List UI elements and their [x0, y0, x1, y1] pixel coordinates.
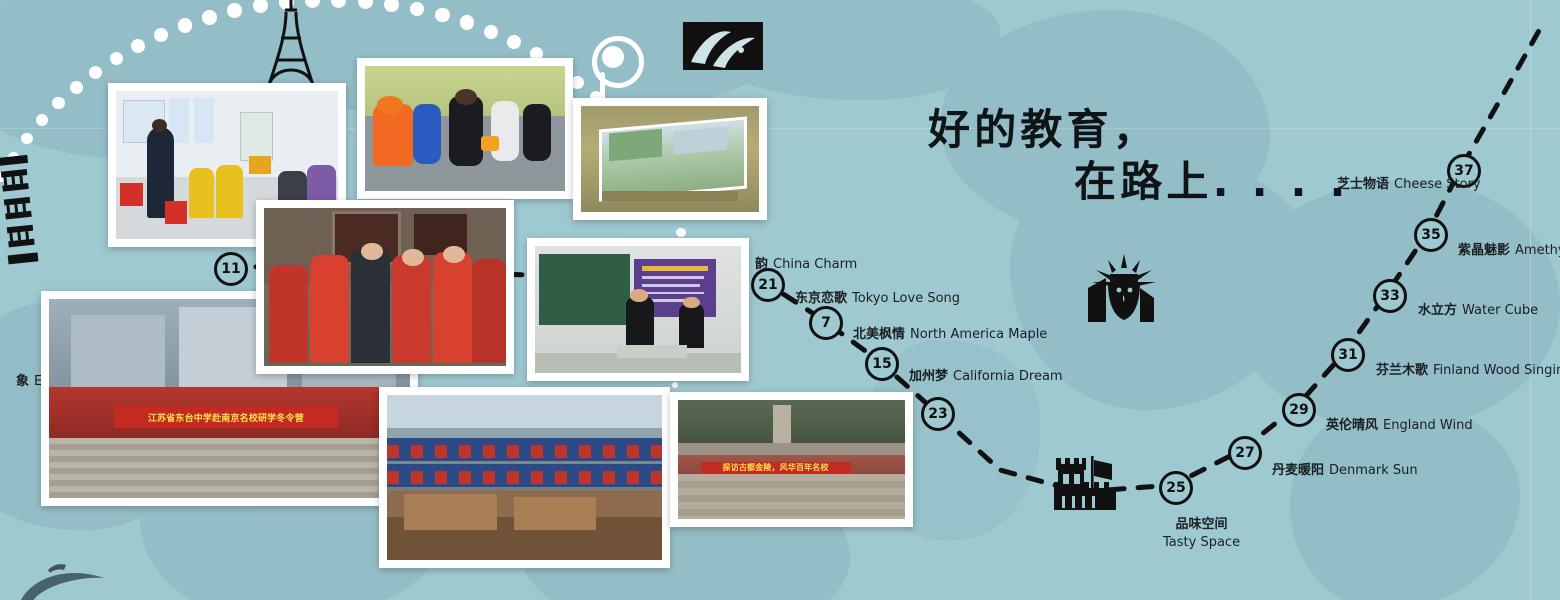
- route-stop-number: 35: [1421, 227, 1440, 243]
- page-title-line-2: 在路上. . . .: [1074, 148, 1350, 209]
- route-stop-label-en: Tasty Space: [1163, 534, 1240, 552]
- arc-dot: [178, 18, 192, 32]
- route-stop-label-en: Finland Wood Singing: [1433, 363, 1560, 378]
- route-stop-label-en: California Dream: [953, 369, 1063, 384]
- route-stop-label-en: Tokyo Love Song: [852, 291, 960, 306]
- route-stop-number: 31: [1338, 347, 1357, 363]
- route-edge-label-cn: 韵: [755, 257, 768, 272]
- banner-text: 探访古都金陵，风华百年名校: [701, 462, 851, 474]
- route-stop-27[interactable]: 27: [1228, 436, 1262, 470]
- route-stop-number: 27: [1235, 445, 1254, 461]
- route-stop-number: 33: [1380, 288, 1399, 304]
- route-stop-label-cn: 北美枫情: [853, 327, 905, 342]
- pin-dot-accent: [602, 46, 624, 68]
- route-stop-label-en: Denmark Sun: [1329, 463, 1418, 478]
- arc-dot: [435, 8, 450, 23]
- statue-of-liberty-icon: [1082, 248, 1166, 324]
- route-stop-label-29: 英伦晴风England Wind: [1326, 414, 1473, 433]
- route-stop-35[interactable]: 35: [1414, 218, 1448, 252]
- arc-dot: [676, 228, 686, 238]
- photo-model-display[interactable]: [573, 98, 767, 220]
- route-stop-label-cn: 芬兰木歌: [1376, 363, 1428, 378]
- route-stop-label-27: 丹麦暖阳Denmark Sun: [1272, 459, 1418, 478]
- arc-dot: [52, 97, 65, 110]
- photo-outdoor-activity[interactable]: [357, 58, 573, 199]
- route-stop-label-cn: 加州梦: [909, 369, 948, 384]
- route-stop-label-cn: 丹麦暖阳: [1272, 463, 1324, 478]
- route-stop-label-15: 加州梦California Dream: [909, 365, 1063, 384]
- route-stop-29[interactable]: 29: [1282, 393, 1316, 427]
- bridge-icon: [8, 556, 128, 600]
- route-stop-number: 21: [758, 277, 777, 293]
- arc-dot: [384, 0, 399, 12]
- route-edge-label-en: China Charm: [773, 257, 857, 272]
- castle-fort-icon: [1050, 452, 1126, 514]
- route-stop-label-cn: 水立方: [1418, 303, 1457, 318]
- route-stop-15[interactable]: 15: [865, 347, 899, 381]
- route-stop-21[interactable]: 21: [751, 268, 785, 302]
- route-stop-number: 29: [1289, 402, 1308, 418]
- route-stop-label-31: 芬兰木歌Finland Wood Singing: [1376, 359, 1560, 378]
- route-stop-label-en: North America Maple: [910, 327, 1047, 342]
- route-stop-number: 25: [1166, 480, 1185, 496]
- arc-dot: [202, 10, 217, 25]
- route-stop-label-33: 水立方Water Cube: [1418, 299, 1538, 318]
- route-stop-label-en: Cheese Story: [1394, 177, 1481, 192]
- route-stop-number: 23: [928, 406, 947, 422]
- route-stop-number: 11: [221, 261, 240, 277]
- arc-dot: [484, 25, 498, 39]
- route-stop-label-21: 东京恋歌Tokyo Love Song: [795, 287, 960, 306]
- route-stop-label-en: England Wind: [1383, 418, 1473, 433]
- route-stop-label-cn: 紫晶魅影: [1458, 243, 1510, 258]
- route-stop-7[interactable]: 7: [809, 306, 843, 340]
- route-stop-label-37: 芝士物语Cheese Story: [1337, 173, 1481, 192]
- route-stop-label-cn: 品味空间: [1163, 516, 1240, 534]
- opera-house-icon: [683, 22, 763, 70]
- photo-monument-group[interactable]: 探访古都金陵，风华百年名校: [670, 392, 913, 527]
- route-stop-23[interactable]: 23: [921, 397, 955, 431]
- banner-text: 江苏省东台中学赴南京名校研学冬令营: [114, 406, 338, 428]
- route-edge-label-china-charm: 韵China Charm: [755, 253, 857, 272]
- route-stop-31[interactable]: 31: [1331, 338, 1365, 372]
- route-stop-number: 7: [821, 315, 831, 331]
- route-edge-label-cn: 象: [16, 374, 29, 389]
- route-stop-label-en: Water Cube: [1462, 303, 1538, 318]
- route-stop-33[interactable]: 33: [1373, 279, 1407, 313]
- route-stop-label-en: Amethyst Ch: [1515, 243, 1560, 258]
- route-stop-label-cn: 东京恋歌: [795, 291, 847, 306]
- arc-dot: [227, 3, 242, 18]
- route-stop-label-cn: 英伦晴风: [1326, 418, 1378, 433]
- route-stop-11[interactable]: 11: [214, 252, 248, 286]
- photo-campus-tour[interactable]: [256, 200, 514, 374]
- route-stop-label-25: 品味空间Tasty Space: [1163, 516, 1240, 551]
- route-stop-number: 15: [872, 356, 891, 372]
- route-stop-label-35: 紫晶魅影Amethyst Ch: [1458, 239, 1560, 258]
- photo-auditorium[interactable]: [379, 387, 670, 568]
- route-stop-25[interactable]: 25: [1159, 471, 1193, 505]
- photo-lecture-hall[interactable]: [527, 238, 749, 381]
- route-stop-label-7: 北美枫情North America Maple: [853, 323, 1047, 342]
- arc-dot: [70, 81, 83, 94]
- leaning-tower-of-pisa-icon: [0, 140, 48, 280]
- poster-canvas: 1121东京恋歌Tokyo Love Song7北美枫情North Americ…: [0, 0, 1560, 600]
